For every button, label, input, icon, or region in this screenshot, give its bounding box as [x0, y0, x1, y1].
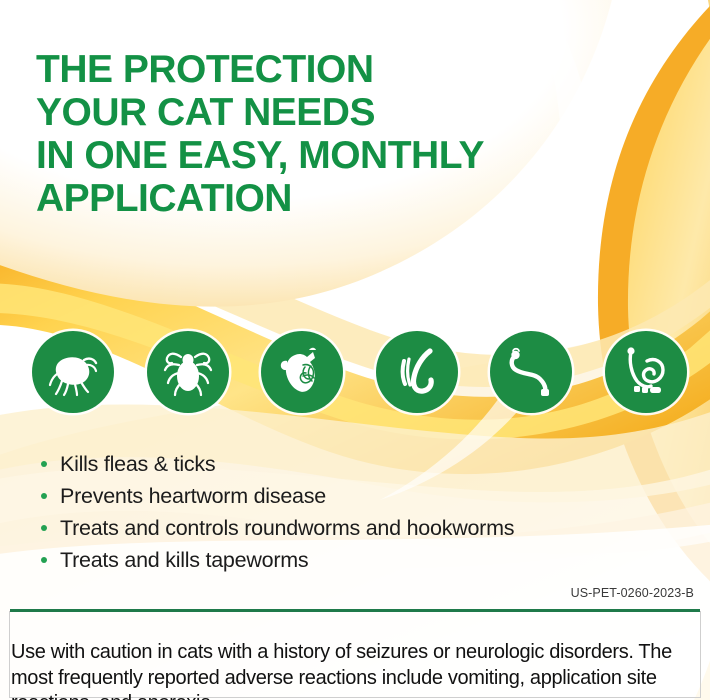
- bullet-dot-icon: [41, 461, 47, 467]
- advertisement-banner: THE PROTECTION YOUR CAT NEEDS IN ONE EAS…: [0, 0, 710, 700]
- roundworm-icon: [376, 331, 458, 413]
- list-item-label: Treats and controls roundworms and hookw…: [60, 516, 514, 540]
- list-item-label: Treats and kills tapeworms: [60, 548, 308, 572]
- bullet-dot-icon: [41, 525, 47, 531]
- benefit-icon-row: [32, 330, 687, 414]
- product-code: US-PET-0260-2023-B: [571, 586, 694, 600]
- list-item: Treats and controls roundworms and hookw…: [38, 516, 514, 541]
- caution-text: Use with caution in cats with a history …: [11, 640, 699, 700]
- divider: [10, 609, 700, 612]
- benefit-bullet-list: Kills fleas & ticks Prevents heartworm d…: [38, 452, 514, 580]
- tapeworm-icon: [605, 331, 687, 413]
- heartworm-heart-icon: [261, 331, 343, 413]
- tick-icon: [147, 331, 229, 413]
- list-item-label: Prevents heartworm disease: [60, 484, 326, 508]
- list-item-label: Kills fleas & ticks: [60, 452, 215, 476]
- bullet-dot-icon: [41, 557, 47, 563]
- bullet-dot-icon: [41, 493, 47, 499]
- page-title: THE PROTECTION YOUR CAT NEEDS IN ONE EAS…: [36, 48, 596, 220]
- list-item: Kills fleas & ticks: [38, 452, 514, 477]
- flea-icon: [32, 331, 114, 413]
- list-item: Prevents heartworm disease: [38, 484, 514, 509]
- hookworm-icon: [490, 331, 572, 413]
- list-item: Treats and kills tapeworms: [38, 548, 514, 573]
